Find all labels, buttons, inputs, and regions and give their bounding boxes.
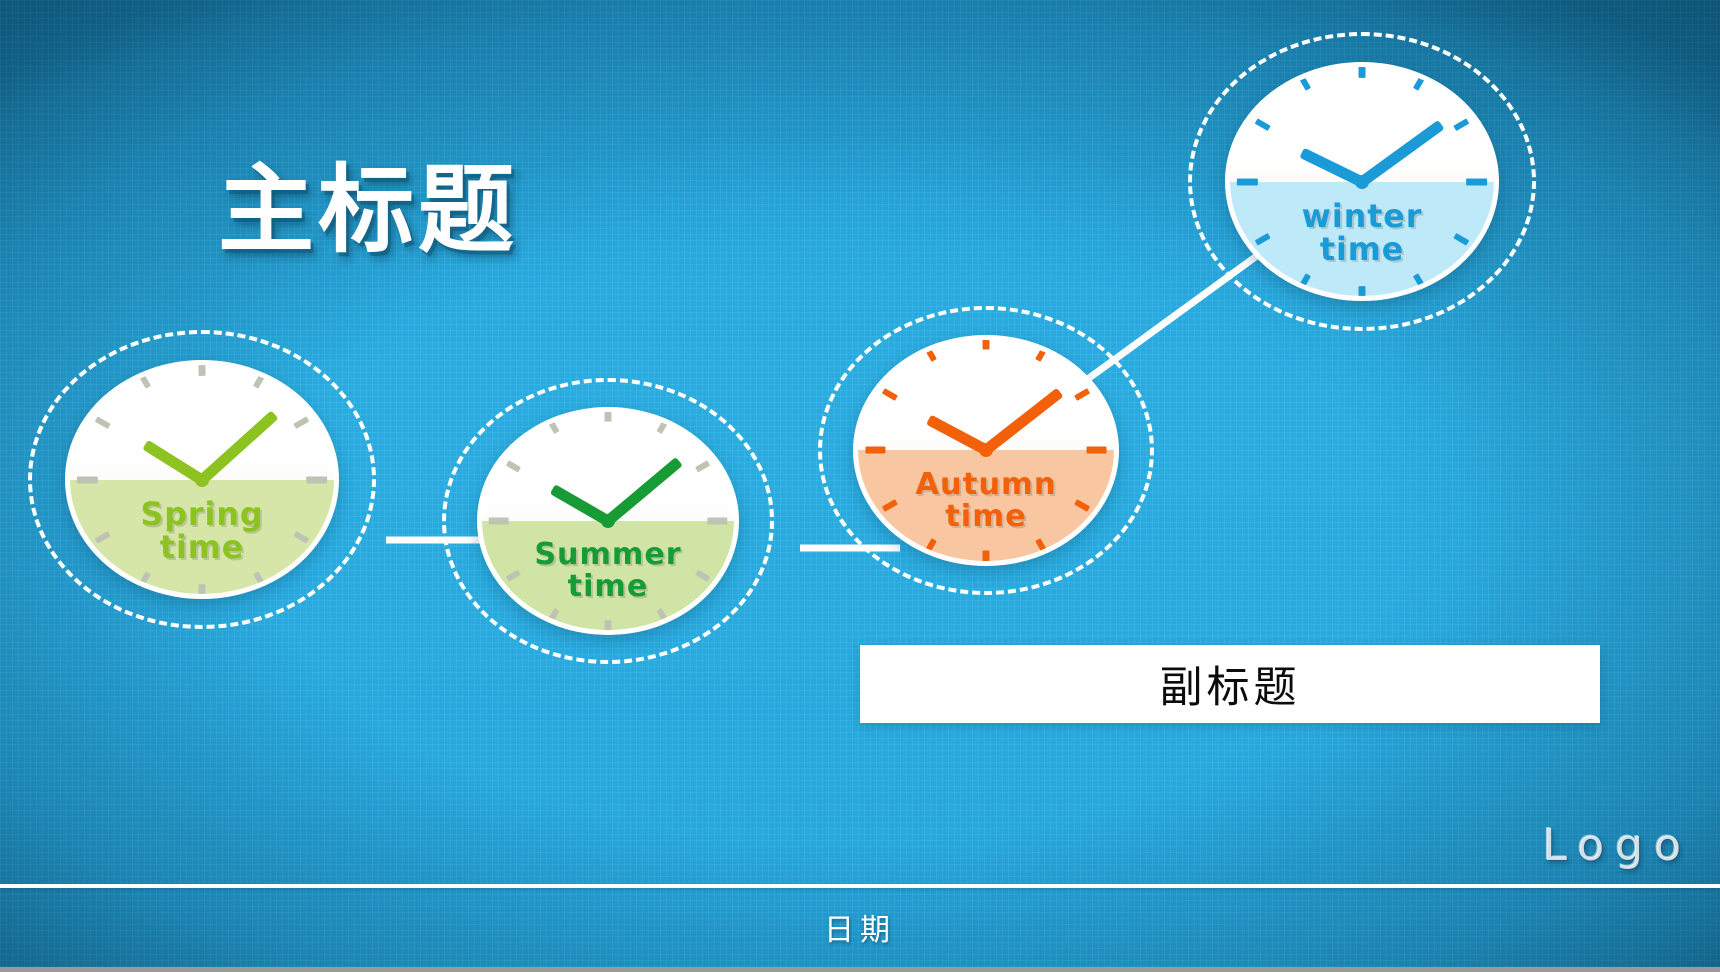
- tick-mark: [866, 447, 886, 454]
- tick-mark: [605, 412, 612, 422]
- tick-mark: [1359, 286, 1366, 297]
- clock-node-winter[interactable]: wintertime: [1188, 32, 1536, 331]
- clock-dial-winter: wintertime: [1230, 67, 1495, 296]
- tick-mark: [306, 476, 327, 483]
- clock-face-autumn: Autumntime: [853, 335, 1118, 566]
- tick-mark: [1466, 178, 1487, 185]
- tick-mark: [605, 620, 612, 630]
- clock-dial-summer: Summertime: [482, 412, 734, 630]
- clock-dial-autumn: Autumntime: [858, 340, 1113, 561]
- tick-mark: [1359, 67, 1366, 78]
- tick-mark: [983, 340, 990, 350]
- clock-dial-spring: Springtime: [70, 365, 335, 594]
- page-title: 主标题: [218, 160, 518, 261]
- tick-mark: [489, 517, 509, 524]
- clock-hub-spring: [195, 473, 209, 487]
- slide-bottom-edge: [0, 967, 1720, 972]
- clock-face-spring: Springtime: [65, 360, 340, 599]
- tick-mark: [1087, 447, 1107, 454]
- footer-date: 日期: [0, 905, 1720, 949]
- tick-mark: [199, 365, 206, 376]
- logo-placeholder: Logo: [1542, 820, 1692, 871]
- tick-mark: [199, 584, 206, 595]
- clock-face-summer: Summertime: [477, 407, 739, 635]
- clock-node-summer[interactable]: Summertime: [442, 378, 774, 664]
- footer-divider: [0, 884, 1720, 888]
- clock-hub-summer: [601, 514, 615, 528]
- tick-mark: [983, 551, 990, 561]
- clock-hub-winter: [1355, 175, 1369, 189]
- subtitle-text: 副标题: [1160, 653, 1301, 715]
- dial-lower-half-autumn: [858, 450, 1113, 561]
- subtitle-box[interactable]: 副标题: [860, 645, 1600, 723]
- clock-node-spring[interactable]: Springtime: [28, 330, 376, 629]
- clock-node-autumn[interactable]: Autumntime: [818, 306, 1154, 595]
- presentation-slide: 主标题 SpringtimeSummertimeAutumntimewinter…: [0, 0, 1720, 972]
- tick-mark: [1237, 178, 1258, 185]
- tick-mark: [77, 476, 98, 483]
- clock-face-winter: wintertime: [1225, 62, 1500, 301]
- tick-mark: [707, 517, 727, 524]
